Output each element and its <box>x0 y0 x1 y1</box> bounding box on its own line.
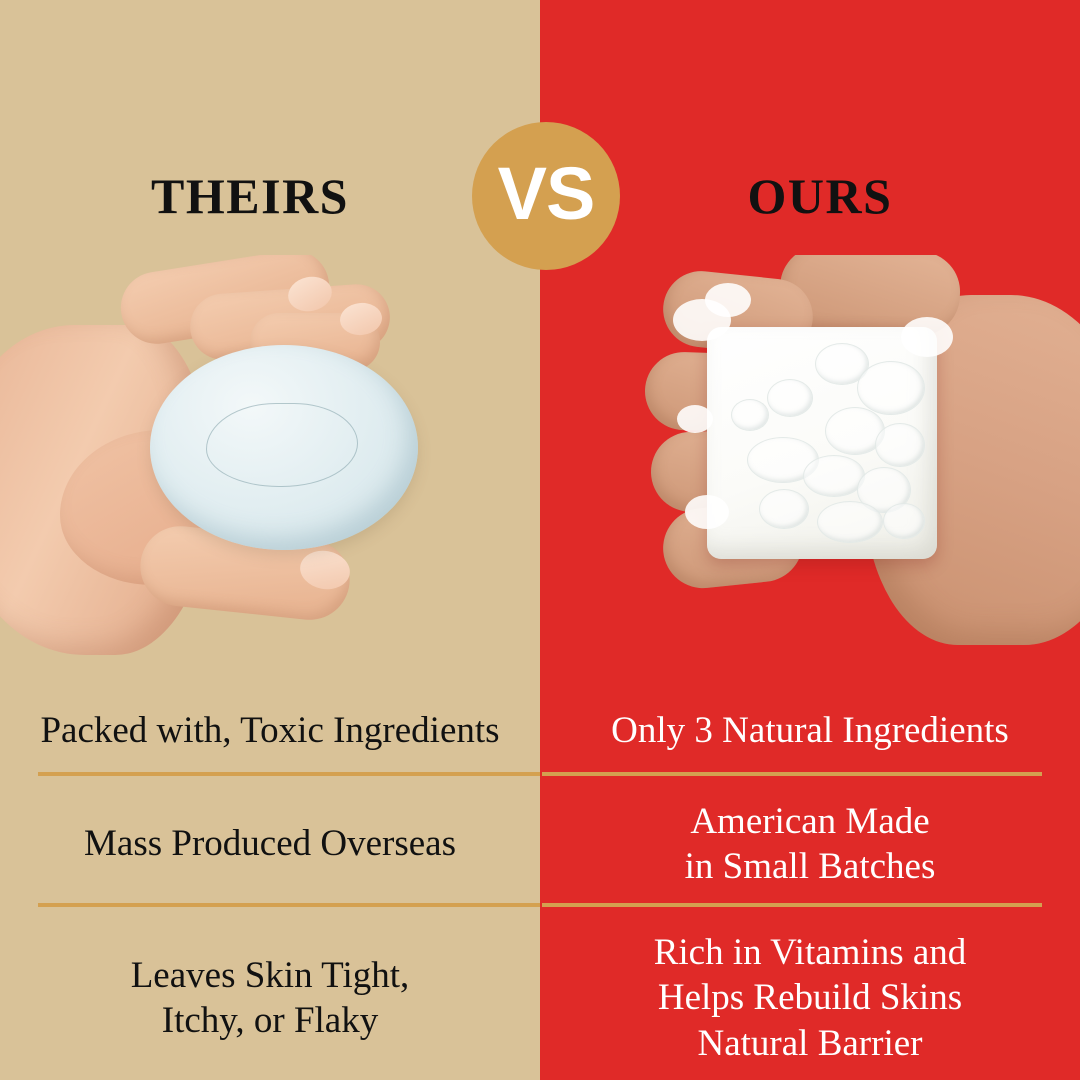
soap-bubble <box>817 501 883 543</box>
table-row: Packed with, Toxic Ingredients Only 3 Na… <box>0 690 1080 772</box>
row-divider-left-1 <box>38 772 540 776</box>
row-divider-right-1 <box>542 772 1042 776</box>
ours-product-photo <box>615 255 1080 675</box>
oval-soap-bar <box>150 345 418 550</box>
table-row: Leaves Skin Tight,Itchy, or Flaky Rich i… <box>0 916 1080 1080</box>
soap-bubble <box>883 503 925 539</box>
soap-suds <box>677 405 713 433</box>
theirs-feature-3: Leaves Skin Tight,Itchy, or Flaky <box>0 916 540 1080</box>
soap-suds <box>705 283 751 317</box>
comparison-infographic: THEIRS OURS VS <box>0 0 1080 1080</box>
ours-feature-1: Only 3 Natural Ingredients <box>540 690 1080 772</box>
theirs-column-header: THEIRS <box>0 160 500 232</box>
vs-badge-label: VS <box>498 157 595 231</box>
soap-bubble <box>803 455 865 497</box>
ours-column-header: OURS <box>590 160 1050 232</box>
ours-feature-2: American Madein Small Batches <box>540 785 1080 903</box>
vs-badge: VS <box>472 122 620 270</box>
soap-bubble <box>875 423 925 467</box>
soap-suds <box>901 317 953 357</box>
ours-feature-3: Rich in Vitamins andHelps Rebuild SkinsN… <box>540 916 1080 1080</box>
soap-bubble <box>731 399 769 431</box>
table-row: Mass Produced Overseas American Madein S… <box>0 785 1080 903</box>
theirs-product-photo <box>0 255 470 675</box>
comparison-table: Packed with, Toxic Ingredients Only 3 Na… <box>0 690 1080 1080</box>
soap-bubble <box>759 489 809 529</box>
soap-bubble <box>857 361 925 415</box>
soap-bubble <box>767 379 813 417</box>
soap-suds <box>685 495 729 529</box>
row-divider-right-2 <box>542 903 1042 907</box>
row-divider-left-2 <box>38 903 540 907</box>
theirs-feature-1: Packed with, Toxic Ingredients <box>0 690 540 772</box>
square-soap-bar <box>707 327 937 559</box>
theirs-feature-2: Mass Produced Overseas <box>0 785 540 903</box>
